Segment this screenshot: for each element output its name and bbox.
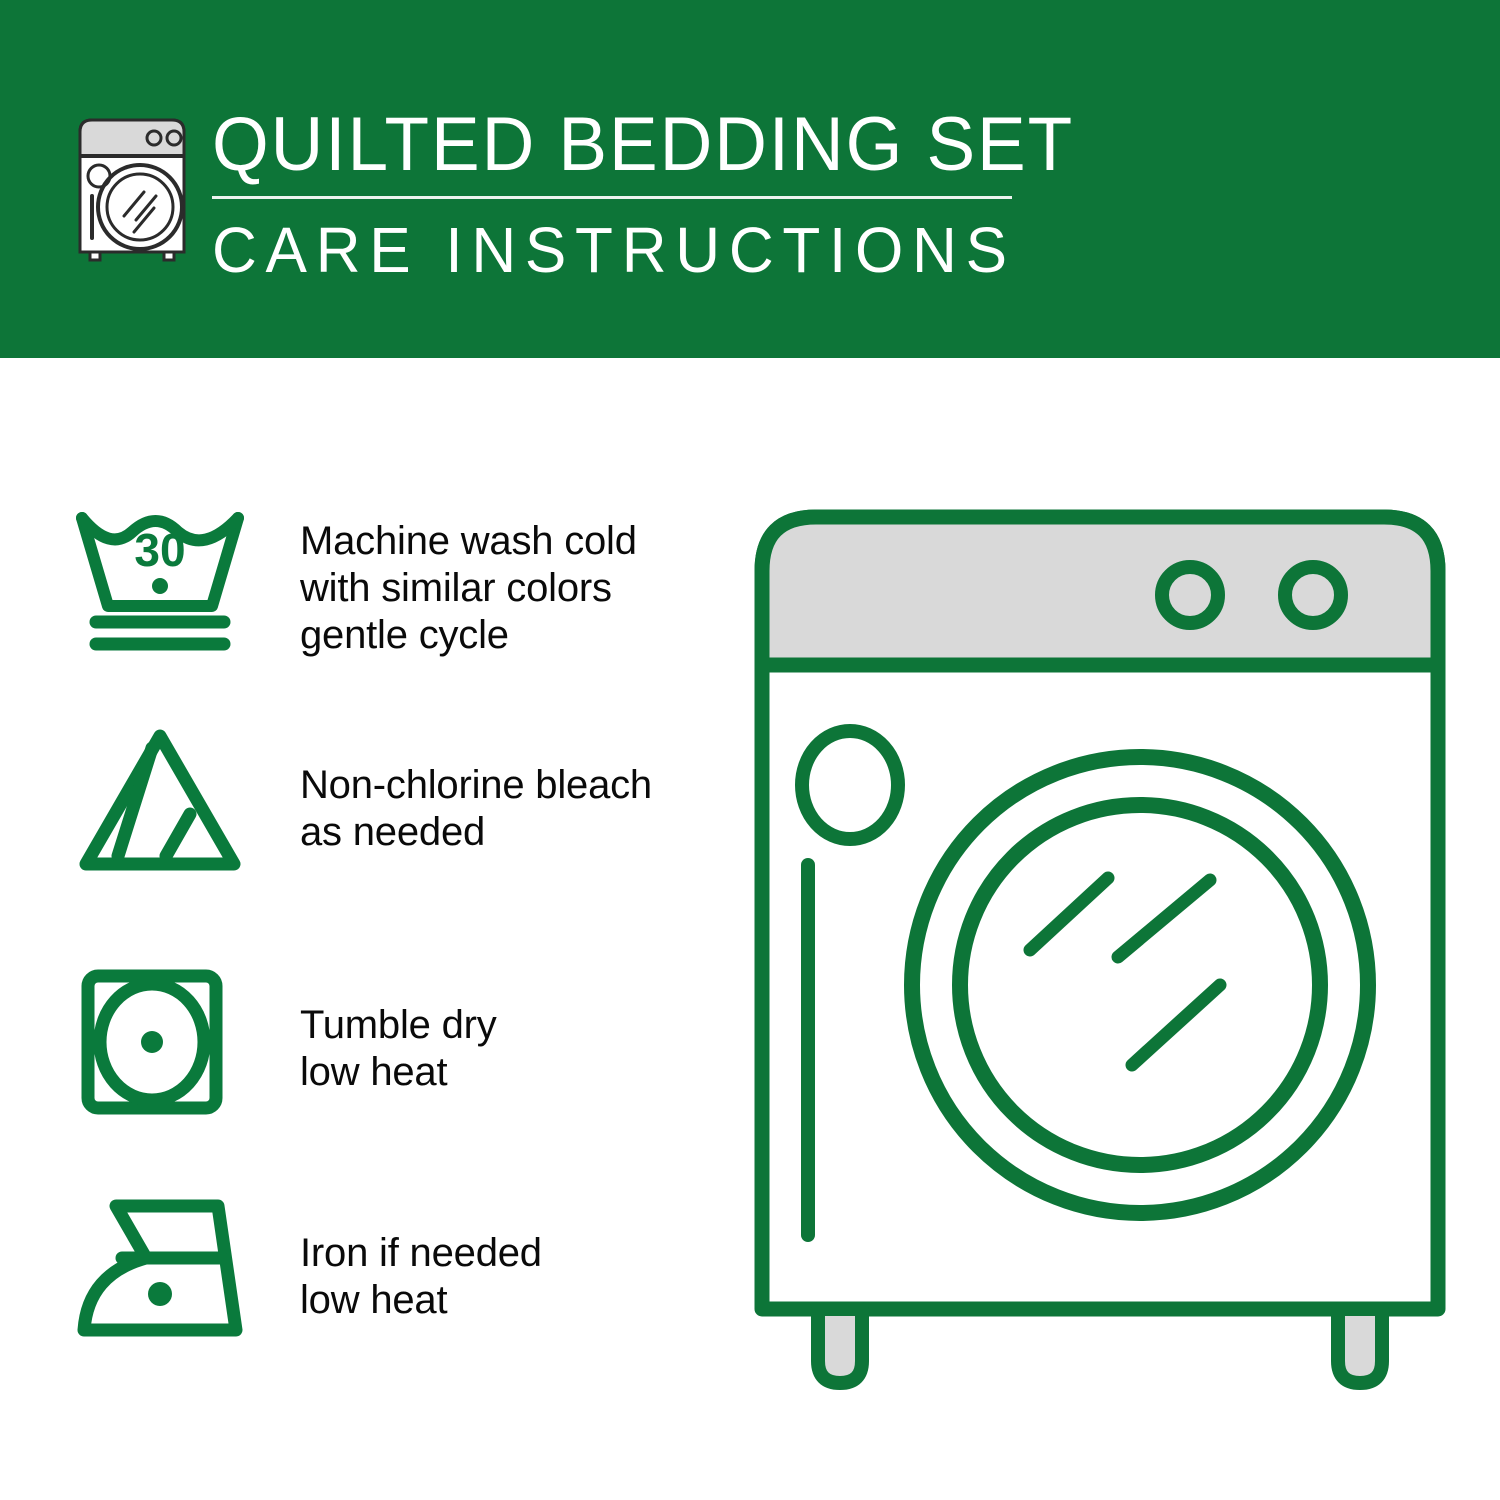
wash-tub-30-icon: 30 — [70, 500, 250, 660]
care-label-wash: Machine wash cold with similar colors ge… — [300, 518, 637, 659]
leg-right — [1338, 1309, 1382, 1383]
care-label-line: gentle cycle — [300, 612, 637, 659]
care-label-iron: Iron if needed low heat — [300, 1230, 542, 1324]
page-title: QUILTED BEDDING SET — [212, 102, 999, 188]
care-label-line: Iron if needed — [300, 1230, 542, 1277]
care-label-line: Non-chlorine bleach — [300, 762, 652, 809]
care-label-line: low heat — [300, 1049, 497, 1096]
wash-temperature-value: 30 — [134, 524, 185, 576]
leg-left — [818, 1309, 862, 1383]
header-band: QUILTED BEDDING SET CARE INSTRUCTIONS — [0, 0, 1500, 358]
care-label-line: Machine wash cold — [300, 518, 637, 565]
front-load-washing-machine-illustration — [740, 495, 1460, 1415]
care-label-line: with similar colors — [300, 565, 637, 612]
page-subtitle: CARE INSTRUCTIONS — [212, 213, 1007, 287]
title-divider — [212, 196, 1012, 199]
bleach-triangle-icon — [70, 722, 250, 882]
header-titles: QUILTED BEDDING SET CARE INSTRUCTIONS — [212, 102, 1032, 287]
care-label-bleach: Non-chlorine bleach as needed — [300, 762, 652, 856]
care-label-line: Tumble dry — [300, 1002, 497, 1049]
tumble-dry-low-icon — [70, 962, 250, 1122]
care-instructions-page: QUILTED BEDDING SET CARE INSTRUCTIONS 3 — [0, 0, 1500, 1500]
care-label-tumble-dry: Tumble dry low heat — [300, 1002, 497, 1096]
care-label-line: low heat — [300, 1277, 542, 1324]
care-label-line: as needed — [300, 809, 652, 856]
washing-machine-icon — [62, 104, 202, 262]
care-row-bleach: Non-chlorine bleach as needed — [0, 722, 720, 922]
iron-low-icon — [70, 1190, 250, 1350]
care-row-tumble-dry: Tumble dry low heat — [0, 962, 720, 1162]
care-row-wash: 30 Machine wash cold with similar colors… — [0, 500, 720, 700]
care-row-iron: Iron if needed low heat — [0, 1190, 720, 1390]
